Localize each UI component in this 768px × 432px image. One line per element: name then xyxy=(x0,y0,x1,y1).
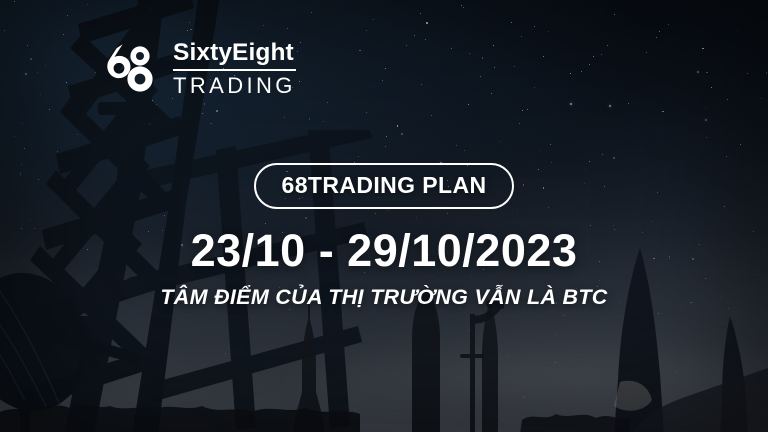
brand-name-primary: SixtyEight xyxy=(173,41,296,71)
brand-name-secondary: TRADING xyxy=(173,75,296,97)
brand-logo: SixtyEight TRADING xyxy=(100,41,296,97)
date-range-heading: 23/10 - 29/10/2023 xyxy=(191,228,578,273)
banner-content: 68TRADING PLAN 23/10 - 29/10/2023 TÂM ĐI… xyxy=(0,163,768,309)
sixty-eight-circles-logo-icon xyxy=(100,42,160,95)
trading-plan-banner: SixtyEight TRADING 68TRADING PLAN 23/10 … xyxy=(0,0,768,432)
brand-wordmark: SixtyEight TRADING xyxy=(173,41,296,97)
trading-plan-badge: 68TRADING PLAN xyxy=(254,163,515,209)
banner-subtitle: TÂM ĐIỂM CỦA THỊ TRƯỜNG VẪN LÀ BTC xyxy=(160,287,607,309)
